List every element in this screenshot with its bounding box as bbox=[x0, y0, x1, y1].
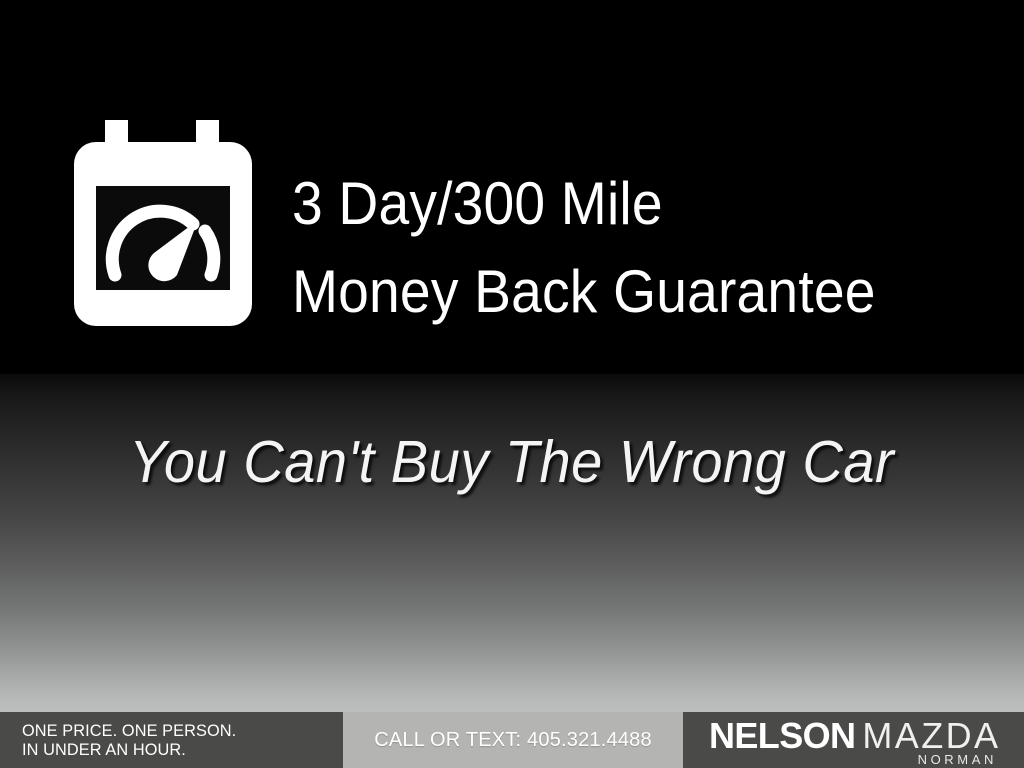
contact-phone-text[interactable]: CALL OR TEXT: 405.321.4488 bbox=[343, 712, 683, 768]
value-proposition-line-2: IN UNDER AN HOUR. bbox=[22, 740, 236, 759]
footer-left-panel: ONE PRICE. ONE PERSON. IN UNDER AN HOUR. bbox=[0, 712, 343, 768]
value-proposition-text: ONE PRICE. ONE PERSON. IN UNDER AN HOUR. bbox=[22, 721, 236, 759]
calendar-speedometer-icon bbox=[74, 120, 252, 326]
gradient-background-band bbox=[0, 374, 1024, 712]
footer-bar: ONE PRICE. ONE PERSON. IN UNDER AN HOUR.… bbox=[0, 712, 1024, 768]
tagline-text: You Can't Buy The Wrong Car bbox=[130, 428, 895, 496]
headline-line-2: Money Back Guarantee bbox=[292, 248, 936, 336]
tagline: You Can't Buy The Wrong Car bbox=[0, 428, 1024, 496]
brand-wordmark: NELSON MAZDA bbox=[709, 718, 1001, 754]
promo-slide: 3 Day/300 Mile Money Back Guarantee You … bbox=[0, 0, 1024, 768]
footer-center-panel: CALL OR TEXT: 405.321.4488 bbox=[343, 712, 683, 768]
brand-name-primary: NELSON bbox=[709, 718, 855, 754]
footer-right-panel: NELSON MAZDA NORMAN bbox=[683, 712, 1024, 768]
headline-line-1: 3 Day/300 Mile bbox=[292, 160, 936, 248]
headline-block: 3 Day/300 Mile Money Back Guarantee bbox=[292, 160, 992, 336]
value-proposition-line-1: ONE PRICE. ONE PERSON. bbox=[22, 721, 236, 740]
brand-name-secondary: MAZDA bbox=[862, 718, 1000, 754]
dealer-logo: NELSON MAZDA NORMAN bbox=[709, 718, 1001, 767]
